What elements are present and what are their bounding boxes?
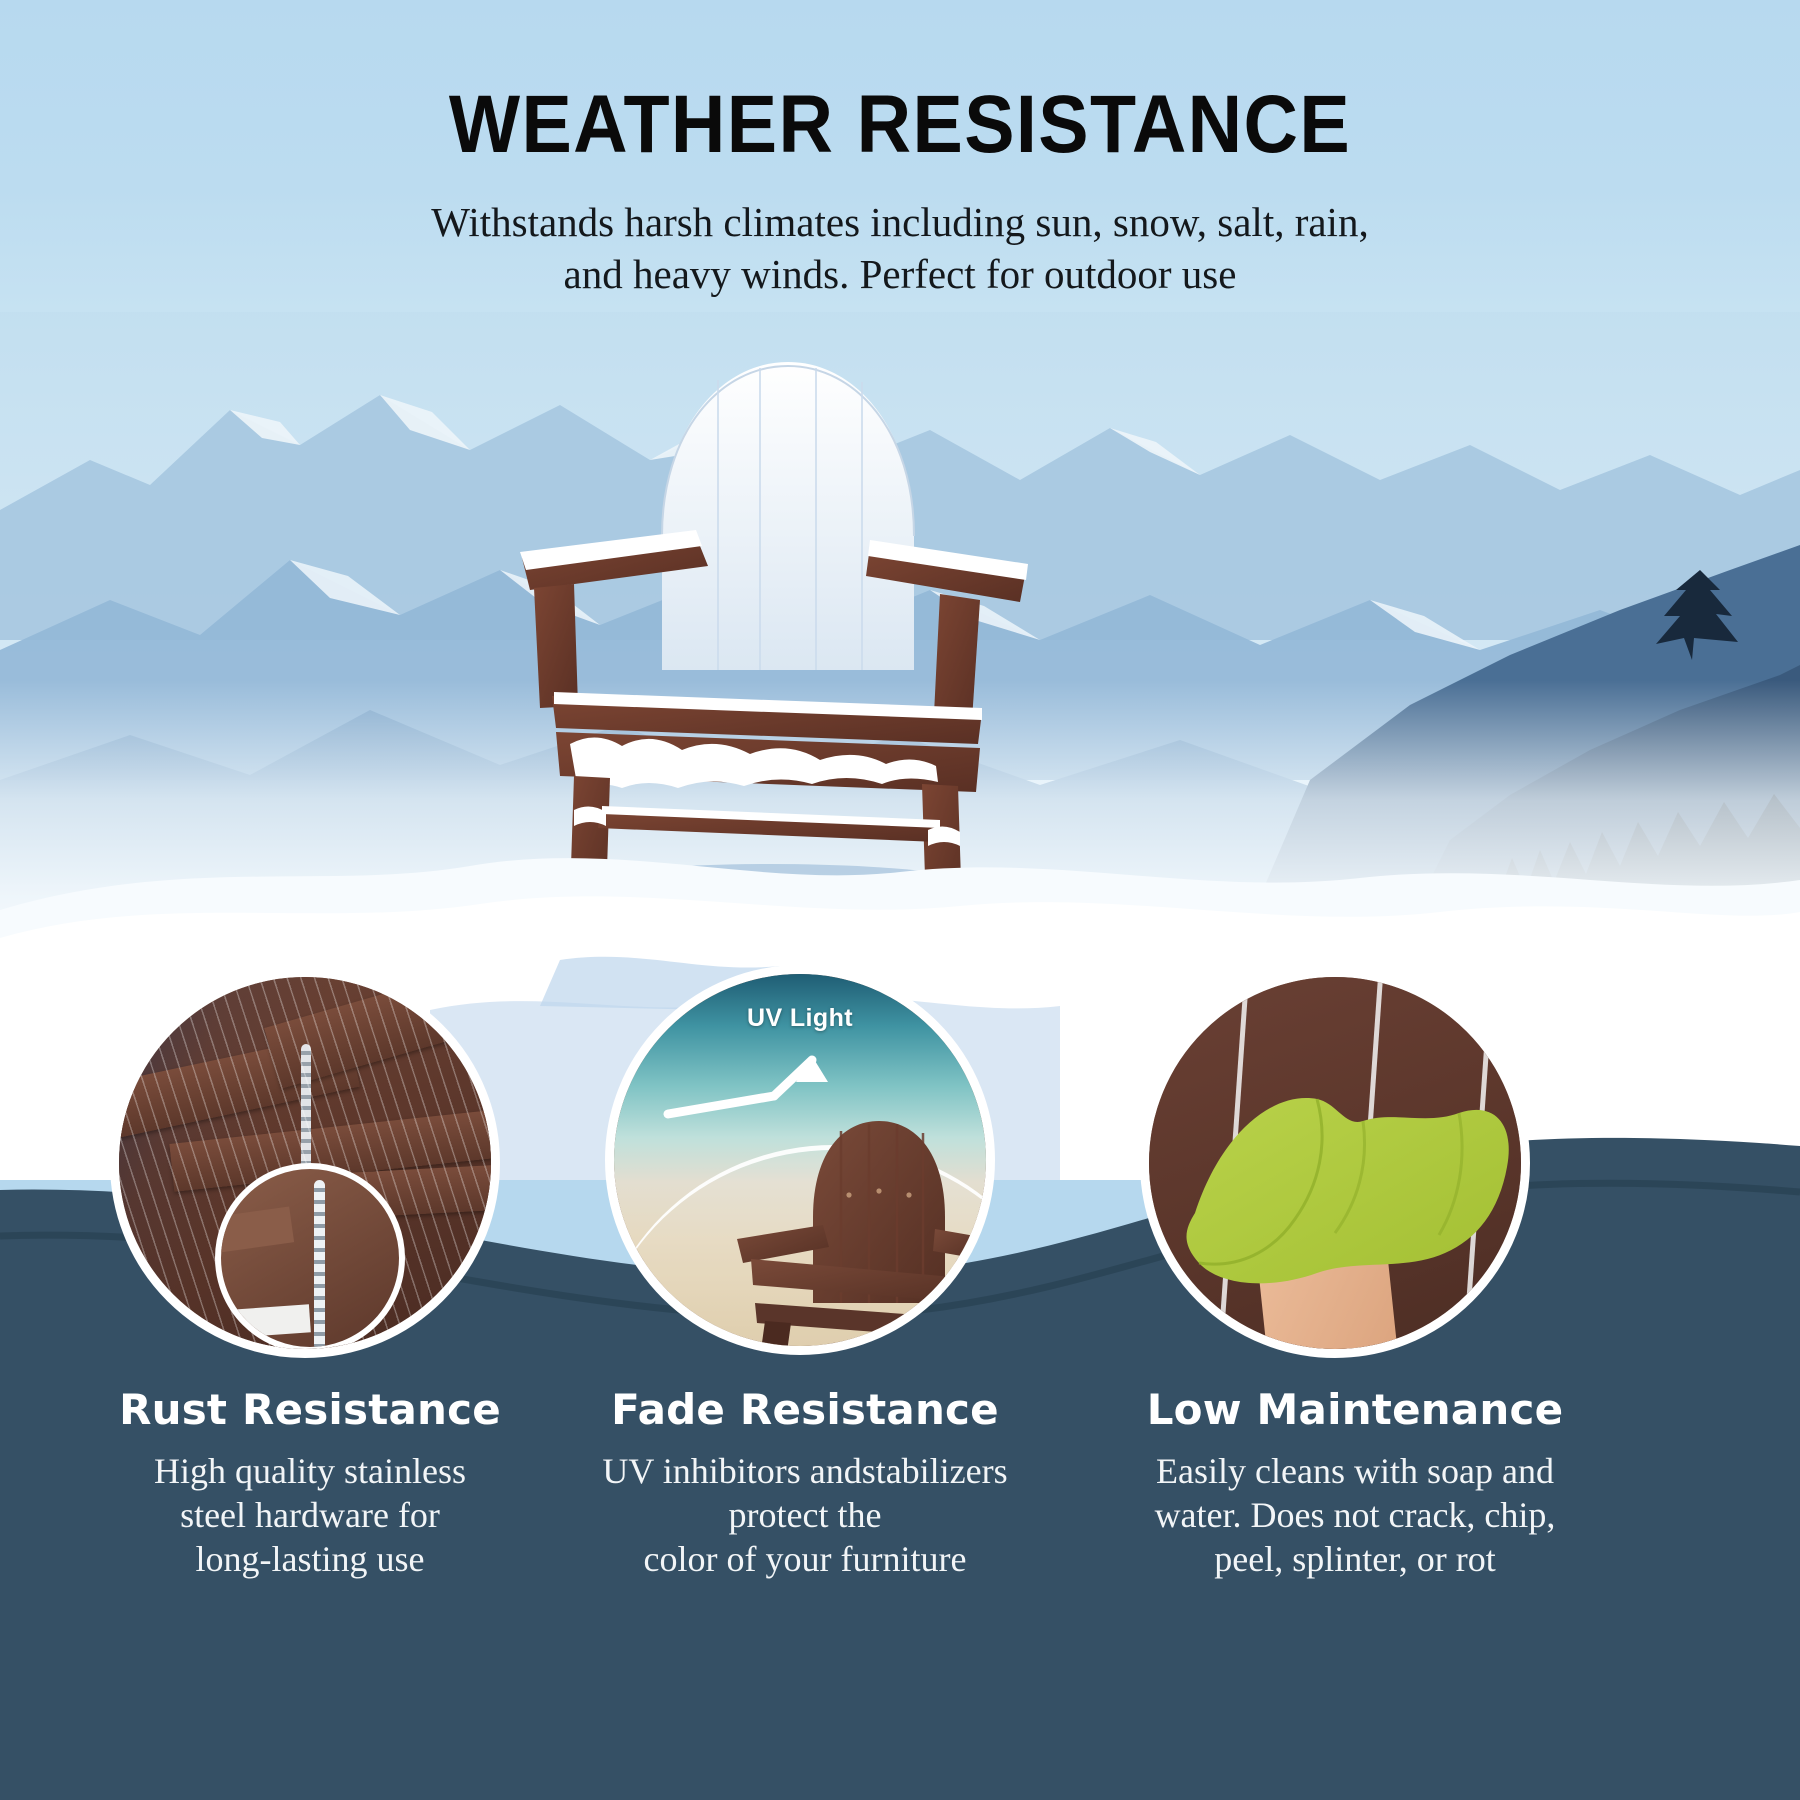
page-title: WEATHER RESISTANCE [72,84,1728,166]
lowmaint-body-line-2: water. Does not crack, chip, [1075,1494,1635,1538]
feature-image-fade-resistance: UV Light [605,965,995,1355]
feature-image-low-maintenance [1140,968,1530,1358]
feature-caption-low-maintenance: Low Maintenance Easily cleans with soap … [1075,1385,1635,1582]
feature-heading-rust: Rust Resistance [60,1385,560,1434]
header-band: WEATHER RESISTANCE Withstands harsh clim… [0,0,1800,312]
feature-body-low-maintenance: Easily cleans with soap and water. Does … [1075,1450,1635,1582]
feature-heading-low-maintenance: Low Maintenance [1075,1385,1635,1434]
rust-body-line-1: High quality stainless [60,1450,560,1494]
feature-body-rust: High quality stainless steel hardware fo… [60,1450,560,1582]
feature-body-fade: UV inhibitors andstabilizers protect the… [555,1450,1055,1582]
feature-caption-rust-resistance: Rust Resistance High quality stainless s… [60,1385,560,1582]
subtitle-line-1: Withstands harsh climates including sun,… [431,199,1368,245]
rust-body-line-3: long-lasting use [60,1538,560,1582]
feature-heading-fade: Fade Resistance [555,1385,1055,1434]
subtitle-line-2: and heavy winds. Perfect for outdoor use [0,248,1800,300]
page-subtitle: Withstands harsh climates including sun,… [0,196,1800,301]
feature-caption-fade-resistance: Fade Resistance UV inhibitors andstabili… [555,1385,1055,1582]
chain-closeup-icon [314,1180,325,1350]
fade-body-line-1: UV inhibitors andstabilizers [555,1450,1055,1494]
feature-image-rust-resistance [110,968,500,1358]
lowmaint-body-line-1: Easily cleans with soap and [1075,1450,1635,1494]
fade-body-line-3: color of your furniture [555,1538,1055,1582]
microfiber-cloth-icon [1177,1073,1517,1323]
beach-chair-illustration [729,1107,984,1352]
uv-light-label: UV Light [614,1004,986,1033]
infographic-stage: UV Light [0,0,1800,1800]
rust-magnified-inset [215,1163,405,1353]
fade-body-line-2: protect the [555,1494,1055,1538]
beach-backdrop: UV Light [614,974,986,1346]
rust-body-line-2: steel hardware for [60,1494,560,1538]
lowmaint-body-line-3: peel, splinter, or rot [1075,1538,1635,1582]
slat-backdrop [1149,977,1521,1349]
